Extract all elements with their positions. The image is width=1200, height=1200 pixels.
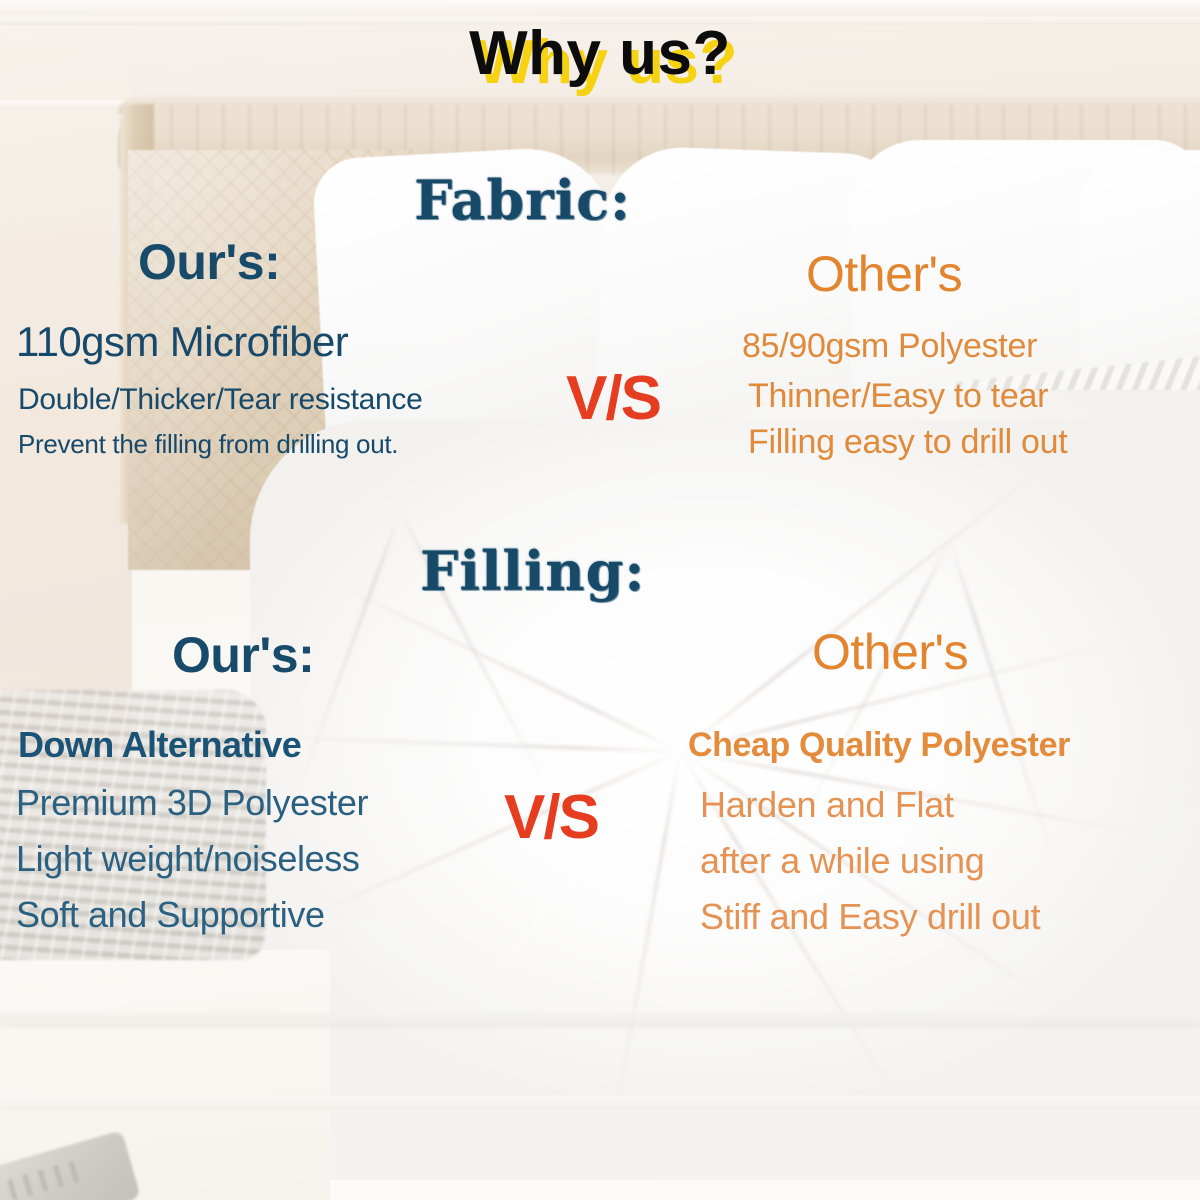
filling-ours-heading: Our's: bbox=[172, 626, 314, 684]
fabric-others-line-1: 85/90gsm Polyester bbox=[742, 327, 1037, 366]
page-title: Why us? bbox=[0, 18, 1200, 89]
fabric-ours-line-3: Prevent the filling from drilling out. bbox=[18, 429, 398, 460]
fabric-ours-heading: Our's: bbox=[138, 233, 280, 291]
section-heading-filling: Filling: bbox=[420, 539, 645, 603]
filling-others-line-2: Harden and Flat bbox=[700, 784, 954, 826]
fabric-ours-line-1: 110gsm Microfiber bbox=[16, 318, 348, 366]
fabric-vs-label: V/S bbox=[566, 363, 660, 434]
filling-ours-line-3: Light weight/noiseless bbox=[16, 838, 359, 880]
filling-ours-line-2: Premium 3D Polyester bbox=[16, 782, 368, 824]
filling-others-line-3: after a while using bbox=[700, 840, 984, 882]
fabric-others-heading: Other's bbox=[806, 245, 962, 303]
fabric-ours-line-2: Double/Thicker/Tear resistance bbox=[18, 383, 423, 417]
fabric-others-line-2: Thinner/Easy to tear bbox=[748, 377, 1048, 416]
filling-others-line-4: Stiff and Easy drill out bbox=[700, 896, 1040, 938]
section-heading-fabric: Fabric: bbox=[414, 168, 631, 232]
filling-others-line-1: Cheap Quality Polyester bbox=[688, 726, 1070, 765]
fabric-others-line-3: Filling easy to drill out bbox=[748, 423, 1067, 462]
filling-ours-line-1: Down Alternative bbox=[18, 724, 301, 766]
filling-ours-line-4: Soft and Supportive bbox=[16, 894, 325, 936]
filling-others-heading: Other's bbox=[812, 623, 968, 681]
filling-vs-label: V/S bbox=[504, 782, 598, 853]
